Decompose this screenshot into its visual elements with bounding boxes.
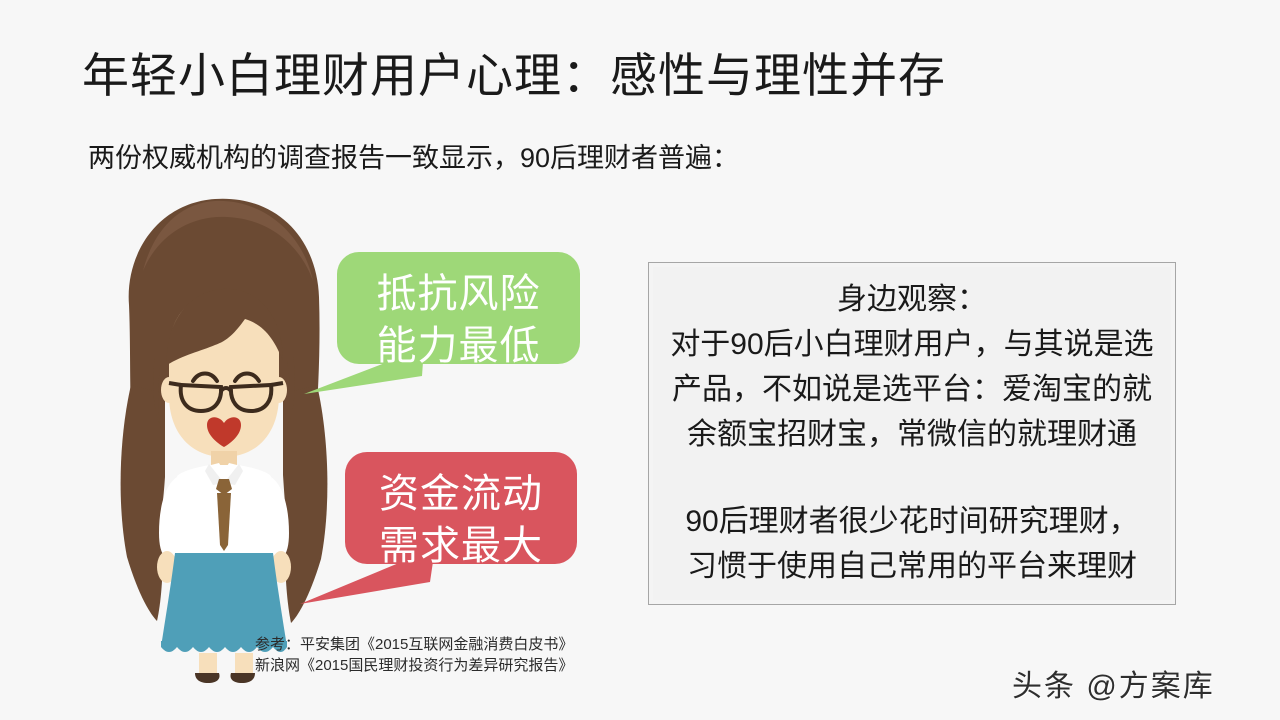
- observation-p1-line1: 对于90后小白理财用户，与其说是选: [649, 322, 1175, 367]
- watermark-label: 头条 @方案库: [1012, 668, 1215, 706]
- bubble-green-line1: 抵抗风险: [359, 268, 558, 320]
- legs-shape: [199, 653, 253, 673]
- bubble-red-line2: 需求最大: [367, 520, 555, 572]
- source-footnote: 参考：平安集团《2015互联网金融消费白皮书》 新浪网《2015国民理财投资行为…: [255, 634, 573, 676]
- observation-heading: 身边观察：: [649, 277, 1175, 322]
- observation-p2-line2: 习惯于使用自己常用的平台来理财: [649, 544, 1175, 589]
- observation-text-box: 身边观察： 对于90后小白理财用户，与其说是选 产品，不如说是选平台：爱淘宝的就…: [648, 262, 1176, 605]
- callout-bubble-red[interactable]: 资金流动 需求最大: [345, 452, 577, 564]
- observation-p1-line2: 产品，不如说是选平台：爱淘宝的就: [649, 367, 1175, 412]
- shoes-shape: [195, 673, 255, 683]
- subtitle-text: 两份权威机构的调查报告一致显示，90后理财者普遍：: [88, 138, 739, 178]
- bubble-green-line2: 能力最低: [359, 320, 558, 372]
- page-title: 年轻小白理财用户心理：感性与理性并存: [82, 46, 946, 106]
- observation-p2-line1: 90后理财者很少花时间研究理财，: [649, 499, 1175, 544]
- cartoon-girl-illustration: [95, 185, 370, 685]
- footnote-line1: 参考：平安集团《2015互联网金融消费白皮书》: [255, 634, 573, 655]
- callout-bubble-green[interactable]: 抵抗风险 能力最低: [337, 252, 580, 364]
- observation-p1-line3: 余额宝招财宝，常微信的就理财通: [649, 412, 1175, 457]
- slide-canvas: 年轻小白理财用户心理：感性与理性并存 两份权威机构的调查报告一致显示，90后理财…: [0, 0, 1280, 720]
- paragraph-spacer: [649, 457, 1175, 499]
- observation-text-content: 身边观察： 对于90后小白理财用户，与其说是选 产品，不如说是选平台：爱淘宝的就…: [649, 277, 1175, 589]
- bubble-red-line1: 资金流动: [367, 468, 555, 520]
- footnote-line2: 新浪网《2015国民理财投资行为差异研究报告》: [255, 655, 573, 676]
